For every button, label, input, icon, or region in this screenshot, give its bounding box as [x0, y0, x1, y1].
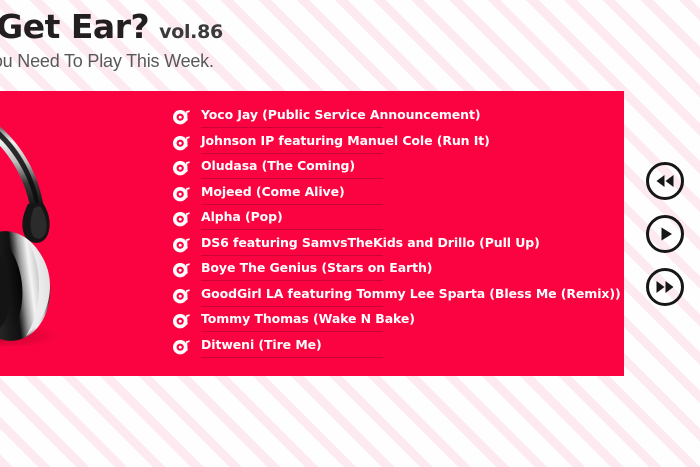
track-body: GoodGirl LA featuring Tommy Lee Sparta (… — [201, 285, 621, 307]
track-body: Mojeed (Come Alive) — [201, 183, 345, 205]
vinyl-record-note-icon — [172, 337, 192, 357]
vinyl-record-note-icon — [172, 133, 192, 153]
track-row[interactable]: Alpha (Pop) — [172, 208, 612, 234]
track-label: Johnson IP featuring Manuel Cole (Run It… — [201, 133, 490, 148]
track-row[interactable]: GoodGirl LA featuring Tommy Lee Sparta (… — [172, 285, 612, 311]
track-separator — [201, 229, 383, 230]
vinyl-record-note-icon — [172, 286, 192, 306]
tracklist: Yoco Jay (Public Service Announcement) J… — [172, 106, 612, 361]
track-label: Oludasa (The Coming) — [201, 158, 355, 173]
vinyl-record-note-icon — [172, 107, 192, 127]
track-separator — [201, 204, 383, 205]
track-body: Johnson IP featuring Manuel Cole (Run It… — [201, 132, 490, 154]
track-label: GoodGirl LA featuring Tommy Lee Sparta (… — [201, 286, 621, 301]
page-title: ho Get Ear? — [0, 10, 149, 43]
track-body: Ditweni (Tire Me) — [201, 336, 322, 358]
page-subtitle: ongs You Need To Play This Week. — [0, 51, 460, 72]
track-separator — [201, 331, 383, 332]
track-row[interactable]: Yoco Jay (Public Service Announcement) — [172, 106, 612, 132]
play-icon — [649, 218, 681, 250]
play-button[interactable] — [646, 215, 684, 253]
track-separator — [201, 178, 383, 179]
track-row[interactable]: Johnson IP featuring Manuel Cole (Run It… — [172, 132, 612, 158]
track-body: Yoco Jay (Public Service Announcement) — [201, 106, 480, 128]
vinyl-record-note-icon — [172, 158, 192, 178]
vinyl-record-note-icon — [172, 184, 192, 204]
track-row[interactable]: Boye The Genius (Stars on Earth) — [172, 259, 612, 285]
vinyl-record-note-icon — [172, 260, 192, 280]
track-separator — [201, 306, 383, 307]
fast-forward-icon — [649, 271, 681, 303]
track-body: Boye The Genius (Stars on Earth) — [201, 259, 432, 281]
track-label: Boye The Genius (Stars on Earth) — [201, 260, 432, 275]
rewind-button[interactable] — [646, 162, 684, 200]
track-separator — [201, 280, 383, 281]
title-row: ho Get Ear? vol.86 — [0, 10, 460, 43]
track-body: Alpha (Pop) — [201, 208, 283, 230]
track-row[interactable]: Oludasa (The Coming) — [172, 157, 612, 183]
track-separator — [201, 357, 383, 358]
poster-canvas: ho Get Ear? vol.86 ongs You Need To Play… — [0, 0, 700, 467]
track-label: DS6 featuring SamvsTheKids and Drillo (P… — [201, 235, 540, 250]
track-row[interactable]: Ditweni (Tire Me) — [172, 336, 612, 362]
track-separator — [201, 255, 383, 256]
track-label: Ditweni (Tire Me) — [201, 337, 322, 352]
track-label: Yoco Jay (Public Service Announcement) — [201, 107, 480, 122]
track-label: Alpha (Pop) — [201, 209, 283, 224]
vinyl-record-note-icon — [172, 209, 192, 229]
fast-forward-button[interactable] — [646, 268, 684, 306]
track-separator — [201, 153, 383, 154]
vinyl-record-note-icon — [172, 311, 192, 331]
track-row[interactable]: DS6 featuring SamvsTheKids and Drillo (P… — [172, 234, 612, 260]
track-row[interactable]: Tommy Thomas (Wake N Bake) — [172, 310, 612, 336]
track-body: DS6 featuring SamvsTheKids and Drillo (P… — [201, 234, 540, 256]
player-controls — [646, 162, 686, 306]
rewind-icon — [649, 165, 681, 197]
track-label: Tommy Thomas (Wake N Bake) — [201, 311, 415, 326]
track-row[interactable]: Mojeed (Come Alive) — [172, 183, 612, 209]
track-body: Oludasa (The Coming) — [201, 157, 355, 179]
vinyl-record-note-icon — [172, 235, 192, 255]
track-separator — [201, 127, 383, 128]
track-label: Mojeed (Come Alive) — [201, 184, 345, 199]
volume-label: vol.86 — [159, 21, 223, 43]
track-body: Tommy Thomas (Wake N Bake) — [201, 310, 415, 332]
header: ho Get Ear? vol.86 ongs You Need To Play… — [0, 10, 460, 72]
